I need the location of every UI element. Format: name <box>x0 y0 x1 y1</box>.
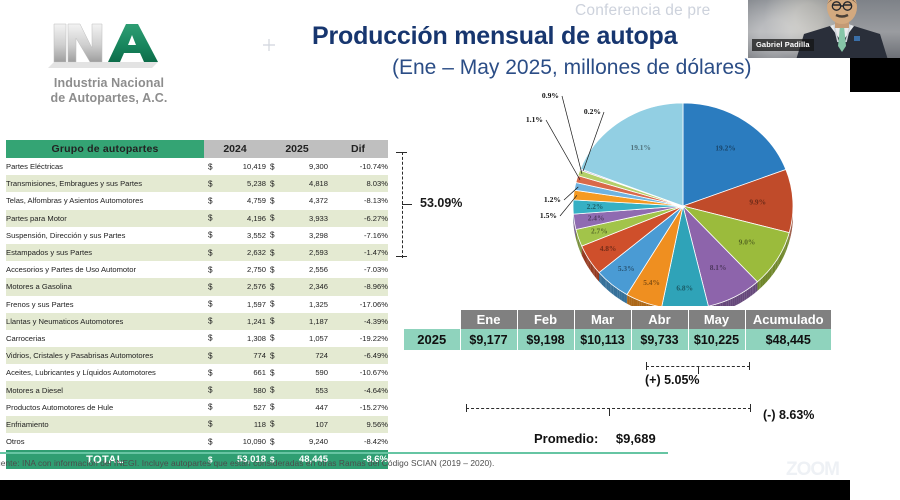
cell-2024: $2,632 <box>204 244 266 261</box>
cell-group-name: Partes Eléctricas <box>6 158 204 175</box>
pie-chart: 19.2%9.9%9.0%8.1%6.8%5.4%5.3%4.8%2.7%2.4… <box>505 84 805 306</box>
pie-slice-label: 8.1% <box>710 263 727 272</box>
video-tile-secondary[interactable] <box>850 58 900 92</box>
cell-2024: $580 <box>204 381 266 398</box>
cell-dif: -4.39% <box>328 313 388 330</box>
table-row: Productos Automotores de Hule$527$447-15… <box>6 399 388 416</box>
cell-2025: $107 <box>266 416 328 433</box>
monthly-values-row: 2025$9,177$9,198$10,113$9,733$10,225$48,… <box>404 329 831 350</box>
cell-2024: $2,576 <box>204 278 266 295</box>
table-row: Aceites, Lubricantes y Líquidos Automoto… <box>6 364 388 381</box>
cell-dif: -8.96% <box>328 278 388 295</box>
cell-dif: -19.22% <box>328 330 388 347</box>
month-header-ene: Ene <box>460 310 517 329</box>
cell-group-name: Aceites, Lubricantes y Líquidos Automoto… <box>6 364 204 381</box>
zoom-watermark: ZOOM <box>786 459 839 481</box>
cell-2025: $2,556 <box>266 261 328 278</box>
table-row: Frenos y sus Partes$1,597$1,325-17.06% <box>6 296 388 313</box>
cell-2025: $2,346 <box>266 278 328 295</box>
cell-2024: $527 <box>204 399 266 416</box>
pie-slice-label: 19.1% <box>631 143 651 152</box>
average-row: Promedio: $9,689 <box>534 431 656 446</box>
month-header-acumulado: Acumulado <box>745 310 831 329</box>
pie-slice-label-outside: 0.2% <box>584 107 601 116</box>
ina-logo: Industria Nacional de Autopartes, A.C. <box>14 18 204 106</box>
cell-2024: $1,597 <box>204 296 266 313</box>
cell-group-name: Otros <box>6 433 204 450</box>
cell-2025: $9,240 <box>266 433 328 450</box>
pie-slice-label-outside: 1.2% <box>544 195 561 204</box>
cell-group-name: Productos Automotores de Hule <box>6 399 204 416</box>
table-row: Partes Eléctricas$10,419$9,300-10.74% <box>6 158 388 175</box>
cell-group-name: Telas, Alfombras y Asientos Automotores <box>6 192 204 209</box>
cell-2025: $553 <box>266 381 328 398</box>
col-header-group: Grupo de autopartes <box>6 140 204 158</box>
right-white-gutter <box>850 92 900 500</box>
cell-2025: $2,593 <box>266 244 328 261</box>
cell-2025: $3,933 <box>266 210 328 227</box>
cell-group-name: Estampados y sus Partes <box>6 244 204 261</box>
pie-slice-label: 2.4% <box>588 214 605 223</box>
cursor-crosshair-icon <box>263 38 275 50</box>
pie-leader-line <box>562 96 582 174</box>
month-value-abr: $9,733 <box>631 329 688 350</box>
average-value: $9,689 <box>616 431 656 446</box>
table-row: Otros$10,090$9,240-8.42% <box>6 433 388 450</box>
parts-table-header-row: Grupo de autopartes 2024 2025 Dif <box>6 140 388 158</box>
cell-group-name: Vidrios, Cristales y Pasabrisas Automoto… <box>6 347 204 364</box>
pie-slice-label: 19.2% <box>715 143 735 152</box>
table-row: Suspensión, Dirección y sus Partes$3,552… <box>6 227 388 244</box>
month-value-mar: $10,113 <box>574 329 631 350</box>
month-header-mar: Mar <box>574 310 631 329</box>
page-title: Producción mensual de autopa <box>312 22 677 51</box>
cell-dif: -7.03% <box>328 261 388 278</box>
pie-slice-label: 4.8% <box>600 244 617 253</box>
table-row: Telas, Alfombras y Asientos Automotores$… <box>6 192 388 209</box>
cell-2025: $4,818 <box>266 175 328 192</box>
cell-2025: $3,298 <box>266 227 328 244</box>
monthly-header-row: EneFebMarAbrMayAcumulado <box>404 310 831 329</box>
table-row: Motores a Gasolina$2,576$2,346-8.96% <box>6 278 388 295</box>
col-header-2024: 2024 <box>204 140 266 158</box>
ina-logo-text: Industria Nacional de Autopartes, A.C. <box>14 76 204 106</box>
cell-2025: $4,372 <box>266 192 328 209</box>
pie-slice-label: 5.3% <box>618 264 635 273</box>
bracket-top5-share: 53.09% <box>396 152 500 262</box>
month-row-label: 2025 <box>404 329 460 350</box>
cell-2025: $1,057 <box>266 330 328 347</box>
cell-2024: $4,196 <box>204 210 266 227</box>
pie-slice-label: 9.0% <box>739 237 756 246</box>
table-row: Motores a Diesel$580$553-4.64% <box>6 381 388 398</box>
average-label: Promedio: <box>534 431 598 446</box>
cell-2024: $10,419 <box>204 158 266 175</box>
month-header-blank <box>404 310 460 329</box>
cell-group-name: Carrocerias <box>6 330 204 347</box>
cell-dif: -4.64% <box>328 381 388 398</box>
footer-source-text: uente: INA con información del INEGI. In… <box>0 458 494 468</box>
cell-dif: -17.06% <box>328 296 388 313</box>
pie-slice-label: 5.4% <box>643 278 660 287</box>
participant-name-label: Gabriel Padilla <box>752 39 814 51</box>
pie-slice-label-outside: 0.9% <box>542 91 559 100</box>
conference-label: Conferencia de pre <box>575 2 710 20</box>
footer-divider <box>0 452 668 454</box>
cell-2024: $661 <box>204 364 266 381</box>
cell-dif: -6.49% <box>328 347 388 364</box>
cell-2025: $590 <box>266 364 328 381</box>
month-header-may: May <box>688 310 745 329</box>
table-row: Vidrios, Cristales y Pasabrisas Automoto… <box>6 347 388 364</box>
pie-slice-label: 9.9% <box>749 197 766 206</box>
cell-group-name: Motores a Diesel <box>6 381 204 398</box>
cell-2025: $447 <box>266 399 328 416</box>
bracket-bottom-cap <box>396 256 407 257</box>
bottom-black-bar <box>0 480 850 500</box>
cell-dif: -6.27% <box>328 210 388 227</box>
bracket-full-right-cap <box>750 404 751 412</box>
cell-2024: $10,090 <box>204 433 266 450</box>
cell-2024: $3,552 <box>204 227 266 244</box>
cell-dif: -10.74% <box>328 158 388 175</box>
bracket-abr-may-right-cap <box>749 362 750 370</box>
cell-dif: -1.47% <box>328 244 388 261</box>
col-header-dif: Dif <box>328 140 388 158</box>
cell-2024: $5,238 <box>204 175 266 192</box>
cell-group-name: Motores a Gasolina <box>6 278 204 295</box>
table-row: Accesorios y Partes de Uso Automotor$2,7… <box>6 261 388 278</box>
cell-group-name: Transmisiones, Embragues y sus Partes <box>6 175 204 192</box>
label-minus-863: (-) 8.63% <box>763 408 814 422</box>
cell-2024: $774 <box>204 347 266 364</box>
cell-2024: $2,750 <box>204 261 266 278</box>
pie-slice-label: 2.2% <box>587 202 604 211</box>
bracket-label-5309: 53.09% <box>420 196 462 210</box>
pie-leader-line <box>546 120 580 180</box>
cell-2024: $1,241 <box>204 313 266 330</box>
col-header-2025: 2025 <box>266 140 328 158</box>
cell-group-name: Frenos y sus Partes <box>6 296 204 313</box>
month-value-feb: $9,198 <box>517 329 574 350</box>
cell-dif: -8.13% <box>328 192 388 209</box>
month-value-ene: $9,177 <box>460 329 517 350</box>
table-row: Transmisiones, Embragues y sus Partes$5,… <box>6 175 388 192</box>
cell-2024: $4,759 <box>204 192 266 209</box>
table-row: Partes para Motor$4,196$3,933-6.27% <box>6 210 388 227</box>
cell-2025: $1,187 <box>266 313 328 330</box>
cell-2025: $724 <box>266 347 328 364</box>
table-row: Estampados y sus Partes$2,632$2,593-1.47… <box>6 244 388 261</box>
logo-line-2: de Autopartes, A.C. <box>14 91 204 106</box>
parts-table-container: Grupo de autopartes 2024 2025 Dif Partes… <box>6 140 388 469</box>
cell-group-name: Partes para Motor <box>6 210 204 227</box>
bracket-mid-tick <box>402 204 412 205</box>
cell-group-name: Llantas y Neumaticos Automotores <box>6 313 204 330</box>
pie-slice-label: 6.8% <box>676 283 693 292</box>
month-value-acumulado: $48,445 <box>745 329 831 350</box>
pie-slice-label-outside: 1.1% <box>526 115 543 124</box>
slide-canvas: Industria Nacional de Autopartes, A.C. C… <box>0 0 900 500</box>
cell-2025: $1,325 <box>266 296 328 313</box>
parts-table-body: Partes Eléctricas$10,419$9,300-10.74%Tra… <box>6 158 388 469</box>
cell-dif: 9.56% <box>328 416 388 433</box>
cell-2024: $118 <box>204 416 266 433</box>
cell-2024: $1,308 <box>204 330 266 347</box>
cell-dif: -10.67% <box>328 364 388 381</box>
parts-table: Grupo de autopartes 2024 2025 Dif Partes… <box>6 140 388 469</box>
table-row: Enfriamiento$118$1079.56% <box>6 416 388 433</box>
pie-chart-svg: 19.2%9.9%9.0%8.1%6.8%5.4%5.3%4.8%2.7%2.4… <box>505 84 805 306</box>
bracket-vertical-line <box>402 152 403 258</box>
label-plus-505: (+) 5.05% <box>645 373 700 387</box>
month-value-may: $10,225 <box>688 329 745 350</box>
cell-group-name: Accesorios y Partes de Uso Automotor <box>6 261 204 278</box>
pie-slice-label-outside: 1.5% <box>540 211 557 220</box>
cell-2025: $9,300 <box>266 158 328 175</box>
month-header-abr: Abr <box>631 310 688 329</box>
pie-slice-label: 2.7% <box>591 227 608 236</box>
cell-group-name: Enfriamiento <box>6 416 204 433</box>
bracket-full-mid-tick <box>609 408 610 416</box>
cell-dif: -15.27% <box>328 399 388 416</box>
logo-line-1: Industria Nacional <box>14 76 204 91</box>
table-row: Llantas y Neumaticos Automotores$1,241$1… <box>6 313 388 330</box>
monthly-table: EneFebMarAbrMayAcumulado 2025$9,177$9,19… <box>404 310 831 350</box>
ina-monogram-icon <box>32 18 182 74</box>
cell-dif: -8.42% <box>328 433 388 450</box>
month-header-feb: Feb <box>517 310 574 329</box>
monthly-table-container: EneFebMarAbrMayAcumulado 2025$9,177$9,19… <box>404 310 831 350</box>
cell-dif: -7.16% <box>328 227 388 244</box>
cell-group-name: Suspensión, Dirección y sus Partes <box>6 227 204 244</box>
page-subtitle: (Ene – May 2025, millones de dólares) <box>392 56 752 80</box>
cell-dif: 8.03% <box>328 175 388 192</box>
table-row: Carrocerias$1,308$1,057-19.22% <box>6 330 388 347</box>
